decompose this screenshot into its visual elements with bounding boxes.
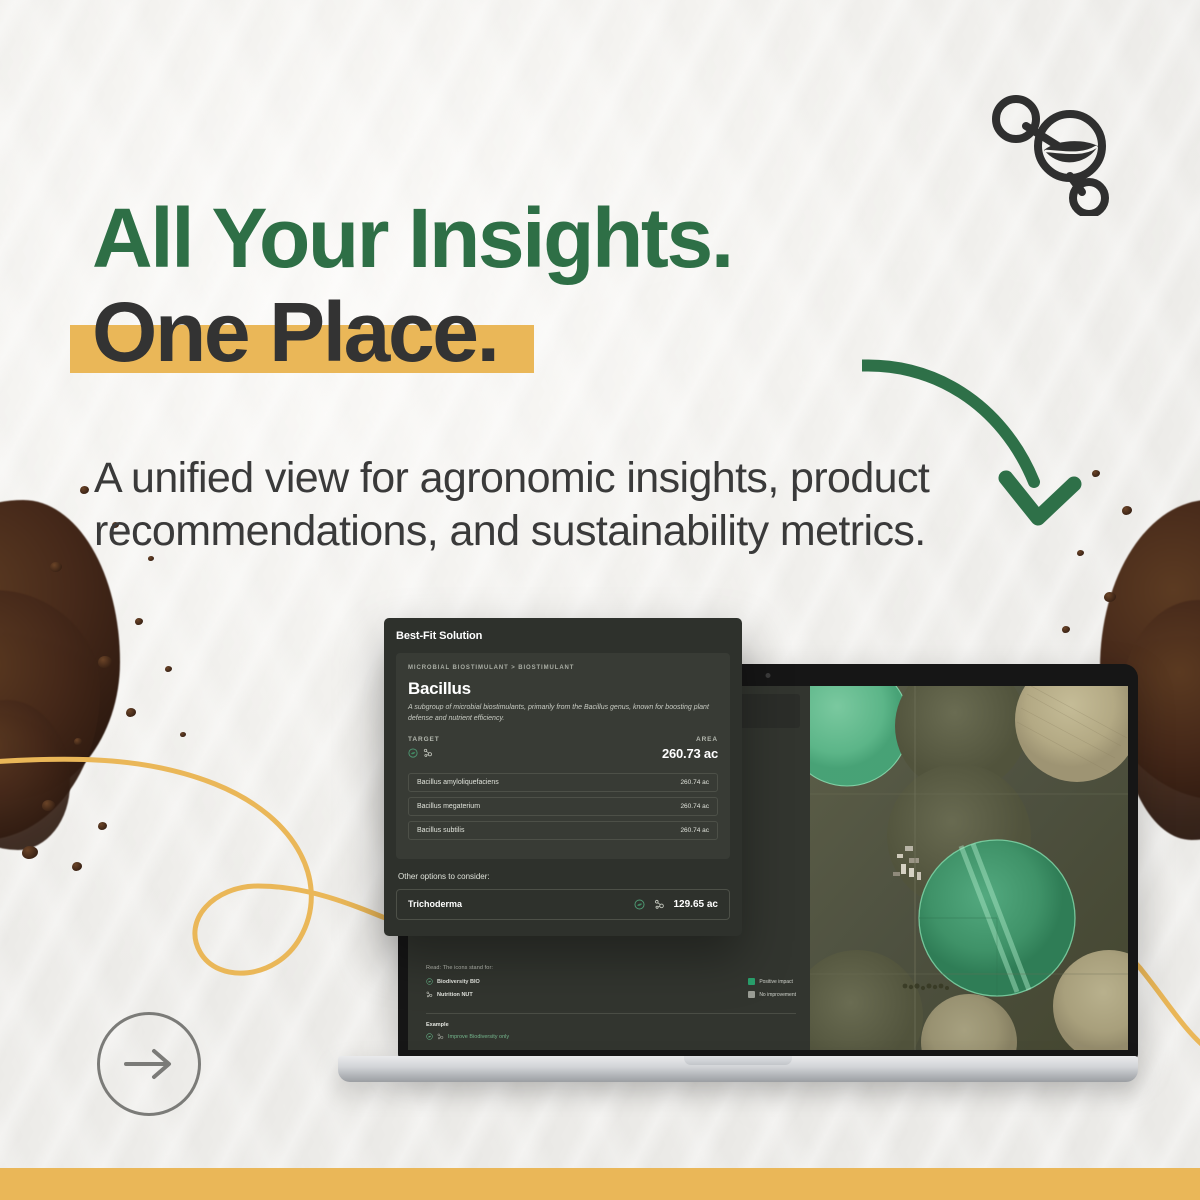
area-label: AREA (662, 736, 718, 743)
headline-line-1: All Your Insights. (92, 196, 1012, 282)
meta-row: TARGET (408, 736, 718, 761)
legend-swatch-list: Positive impact No improvement (748, 978, 796, 1004)
biodiversity-icon (426, 1033, 433, 1040)
product-title: Bacillus (408, 679, 718, 699)
legend-divider (426, 1013, 796, 1014)
strain-name: Bacillus amyloliquefaciens (417, 779, 499, 786)
legend-example-row: Improve Biodiversity only (426, 1033, 796, 1040)
best-fit-solution-card: Best-Fit Solution MICROBIAL BIOSTIMULANT… (384, 618, 742, 936)
other-option-right: 129.65 ac (634, 899, 719, 910)
legend-item-label: Biodiversity BIO (437, 979, 480, 985)
satellite-field-map[interactable] (810, 686, 1128, 1050)
strain-row[interactable]: Bacillus megaterium 260.74 ac (408, 797, 718, 816)
strain-area: 260.74 ac (680, 779, 709, 786)
curved-down-arrow-icon (862, 332, 1092, 542)
strain-name: Bacillus subtilis (417, 827, 464, 834)
legend-item: Nutrition NUT (426, 991, 480, 998)
headline-line-2: One Place. (92, 285, 498, 379)
laptop-base (338, 1056, 1138, 1082)
poster-canvas: All Your Insights. One Place. A unified … (0, 0, 1200, 1200)
legend-swatch-label: Positive impact (759, 979, 793, 985)
laptop-notch (684, 1056, 792, 1065)
legend-example-text: Improve Biodiversity only (448, 1034, 509, 1040)
breadcrumb: MICROBIAL BIOSTIMULANT > BIOSTIMULANT (408, 665, 718, 671)
strain-name: Bacillus megaterium (417, 803, 480, 810)
legend-swatch-item: No improvement (748, 991, 796, 998)
other-option-row[interactable]: Trichoderma 129.65 ac (396, 889, 730, 920)
biodiversity-icon[interactable] (408, 748, 418, 758)
other-option-area: 129.65 ac (674, 899, 719, 910)
legend-item: Biodiversity BIO (426, 978, 480, 985)
icon-legend: Read: The icons stand for: Biodiversity … (426, 965, 796, 1040)
headline-line-2-wrapper: One Place. (92, 290, 498, 376)
target-block: TARGET (408, 736, 440, 758)
legend-icon-list: Biodiversity BIO (426, 978, 480, 1004)
product-description: A subgroup of microbial biostimulants, p… (408, 703, 718, 725)
legend-example-title: Example (426, 1022, 796, 1028)
biodiversity-icon[interactable] (634, 899, 645, 910)
other-option-name: Trichoderma (408, 899, 462, 909)
field-map-canvas (810, 686, 1128, 1050)
swatch-positive-impact (748, 978, 755, 985)
swatch-no-improvement (748, 991, 755, 998)
arrow-right-icon (122, 1046, 176, 1082)
biodiversity-icon (426, 978, 433, 985)
bottom-accent-bar (0, 1168, 1200, 1200)
hero-subhead: A unified view for agronomic insights, p… (94, 452, 974, 558)
legend-swatch-label: No improvement (759, 992, 796, 998)
area-value: 260.73 ac (662, 746, 718, 761)
strain-list: Bacillus amyloliquefaciens 260.74 ac Bac… (408, 773, 718, 840)
target-label: TARGET (408, 736, 440, 743)
area-block: AREA 260.73 ac (662, 736, 718, 761)
strain-row[interactable]: Bacillus subtilis 260.74 ac (408, 821, 718, 840)
strain-row[interactable]: Bacillus amyloliquefaciens 260.74 ac (408, 773, 718, 792)
legend-swatch-item: Positive impact (748, 978, 796, 985)
legend-columns: Biodiversity BIO (426, 978, 796, 1004)
legend-item-label: Nutrition NUT (437, 992, 473, 998)
nutrition-icon (437, 1033, 444, 1040)
nutrition-icon[interactable] (423, 748, 433, 758)
other-options-label: Other options to consider: (398, 872, 730, 881)
legend-title: Read: The icons stand for: (426, 965, 796, 971)
target-icon-group (408, 748, 440, 758)
laptop-camera-icon (766, 673, 771, 678)
nutrition-icon (426, 991, 433, 998)
card-body: MICROBIAL BIOSTIMULANT > BIOSTIMULANT Ba… (396, 653, 730, 859)
nutrition-icon[interactable] (654, 899, 665, 910)
strain-area: 260.74 ac (680, 803, 709, 810)
strain-area: 260.74 ac (680, 827, 709, 834)
card-header-title: Best-Fit Solution (396, 630, 730, 642)
next-slide-button[interactable] (97, 1012, 201, 1116)
